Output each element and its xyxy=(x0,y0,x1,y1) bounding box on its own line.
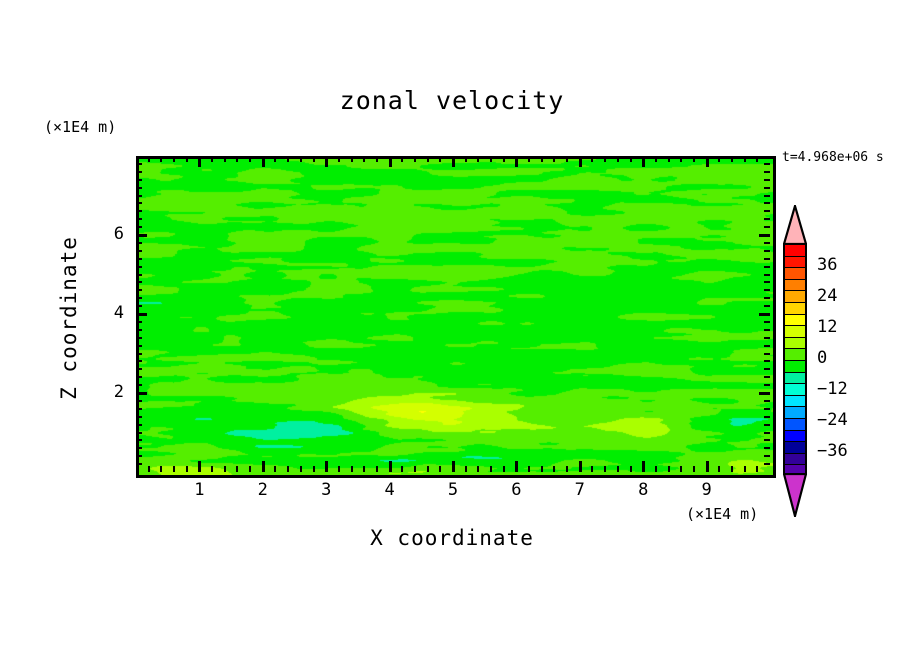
x-tick-5: 5 xyxy=(438,480,468,500)
figure-canvas: zonal velocity t=4.968e+06 s (×1E4 m) 12… xyxy=(0,0,904,654)
colorbar-swatch xyxy=(785,419,805,431)
y-tick-2: 2 xyxy=(94,382,124,402)
colorbar-swatch xyxy=(785,407,805,419)
x-tick-6: 6 xyxy=(501,480,531,500)
colorbar-swatch xyxy=(785,442,805,454)
colorbar-swatch xyxy=(785,280,805,292)
y-tick-4: 4 xyxy=(94,303,124,323)
x-tick-7: 7 xyxy=(565,480,595,500)
colorbar-label: 24 xyxy=(817,286,837,306)
colorbar-swatch xyxy=(785,338,805,350)
plot-area[interactable] xyxy=(136,156,776,478)
colorbar-swatch xyxy=(785,257,805,269)
colorbar-swatch xyxy=(785,326,805,338)
x-axis-units: (×1E4 m) xyxy=(686,505,758,523)
colorbar-swatch xyxy=(785,454,805,466)
time-annotation: t=4.968e+06 s xyxy=(782,150,884,165)
colorbar-label: −24 xyxy=(817,410,848,430)
contour-field xyxy=(139,159,773,475)
y-axis-units: (×1E4 m) xyxy=(44,118,116,136)
colorbar-swatch xyxy=(785,396,805,408)
x-tick-1: 1 xyxy=(184,480,214,500)
colorbar-label: 12 xyxy=(817,317,837,337)
colorbar-swatch xyxy=(785,361,805,373)
x-tick-4: 4 xyxy=(375,480,405,500)
colorbar-swatch xyxy=(785,245,805,257)
colorbar-under-arrow-icon xyxy=(783,473,807,517)
colorbar[interactable]: 3624120−12−24−36 xyxy=(783,205,807,515)
x-axis-title: X coordinate xyxy=(0,526,904,550)
colorbar-label: −36 xyxy=(817,441,848,461)
colorbar-swatch xyxy=(785,315,805,327)
colorbar-label: 0 xyxy=(817,348,827,368)
colorbar-swatch xyxy=(785,373,805,385)
colorbar-swatch xyxy=(785,268,805,280)
y-axis-title: Z coordinate xyxy=(57,228,81,408)
x-tick-3: 3 xyxy=(311,480,341,500)
x-tick-2: 2 xyxy=(248,480,278,500)
chart-title: zonal velocity xyxy=(0,86,904,115)
colorbar-label: 36 xyxy=(817,255,837,275)
colorbar-swatch xyxy=(785,431,805,443)
x-tick-8: 8 xyxy=(628,480,658,500)
colorbar-over-arrow-icon xyxy=(783,205,807,245)
colorbar-label: −12 xyxy=(817,379,848,399)
y-tick-6: 6 xyxy=(94,224,124,244)
colorbar-swatch xyxy=(785,384,805,396)
colorbar-swatch xyxy=(785,303,805,315)
x-tick-9: 9 xyxy=(692,480,722,500)
colorbar-swatches xyxy=(783,243,807,475)
colorbar-swatch xyxy=(785,291,805,303)
colorbar-swatch xyxy=(785,349,805,361)
